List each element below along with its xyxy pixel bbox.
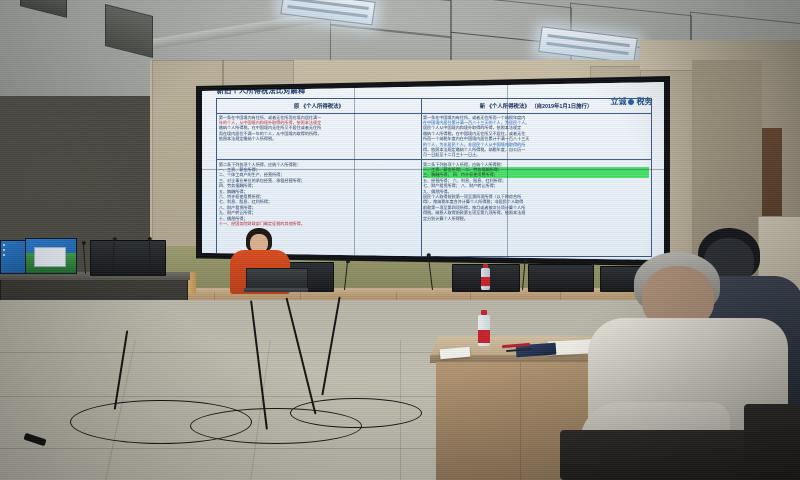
old-article-1-cell: 第一条在中国境内有住所，或者无住所而在境内居住满一 年的个人，从中国境内和境外取… [217,113,421,160]
new-law-column: 新 《个人所得税法》 （自2019年1月1日施行） 第一条在中国境内有住所，或者… [421,99,651,256]
room-photo: 新旧个人所得税法比对解释 立诚 税务 原 《个人所得税法》 第一条在中国境内有住… [0,0,800,480]
console-monitor-right [90,240,166,276]
laptop-base [244,288,308,292]
old-law-header: 原 《个人所得税法》 [217,99,421,114]
new-article-1-cell: 第一条在中国境内有住所，或者无住所而一个纳税年度内 在中国境内居住累计满一百八十… [421,113,651,160]
ceiling-vent [105,4,153,58]
desk-monitor [528,264,594,292]
videowall-seam [354,82,355,260]
new-article-2-cell: 第二条下列各项个人所得，应纳个人所得税： 一、工资、薪金所得； 二、劳务报酬所得… [421,160,651,256]
console-monitor-main[interactable] [25,238,77,274]
attendee-chair [744,404,800,480]
new-law-header: 新 《个人所得税法》 （自2019年1月1日施行） [421,99,651,114]
new-a2-line: 定分别计算个人所得税。 [423,216,649,221]
water-bottle [481,264,490,290]
videowall-seam [202,169,664,170]
attendee-chair [560,430,770,480]
floor-cable-loop [290,398,422,428]
presenter-laptop [244,268,308,292]
water-bottle [478,310,490,346]
old-a2-line: 十一、经国务院财政部门确定征税的其他所得。 [219,221,419,226]
new-a1-line: 月一日起至十二月三十一日止。 [423,152,649,157]
laptop-lid [246,268,308,290]
videowall-seam [507,82,508,260]
old-a1-line: 依照本法规定缴纳个人所得税。 [219,136,419,141]
console-monitor-left[interactable] [0,240,26,274]
